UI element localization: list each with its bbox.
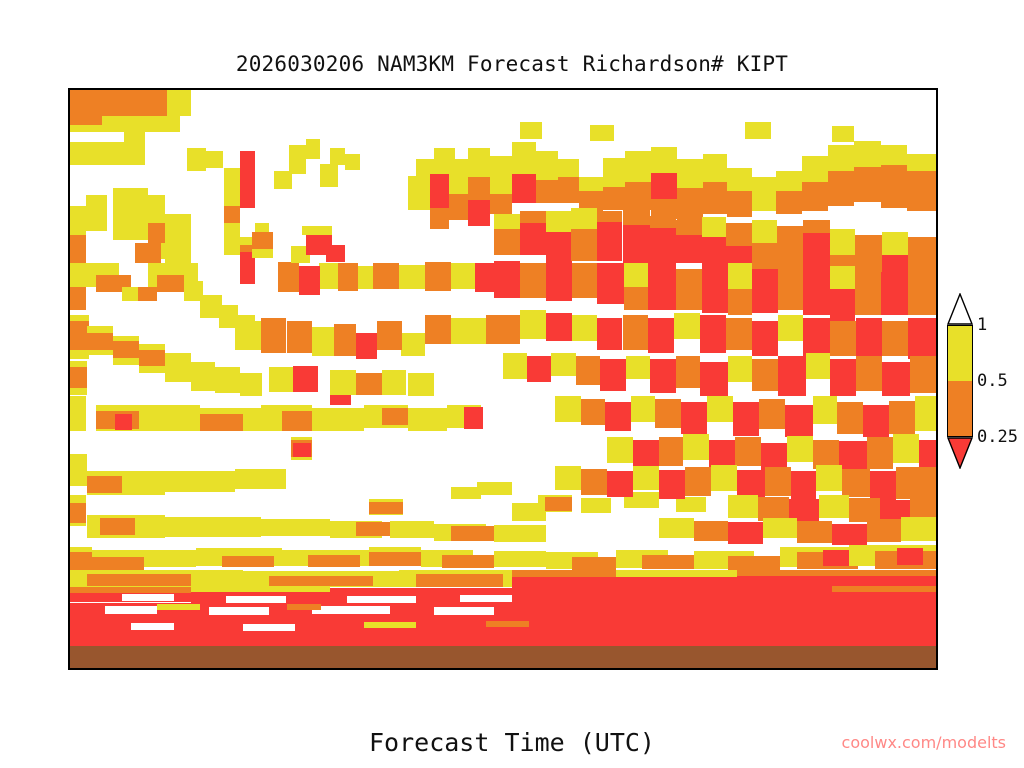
heatmap-cell — [787, 436, 813, 462]
heatmap-cell — [728, 289, 752, 315]
heatmap-cell — [674, 313, 700, 339]
heatmap-cell — [842, 469, 870, 498]
heatmap-cell — [728, 356, 752, 382]
heatmap-cell — [460, 595, 512, 602]
heatmap-cell — [206, 151, 223, 168]
heatmap-cell — [135, 243, 161, 263]
colorbar-top-arrow-icon — [947, 293, 973, 325]
watermark: coolwx.com/modelts — [842, 733, 1006, 752]
heatmap-cell — [797, 521, 832, 543]
heatmap-cell — [122, 594, 174, 601]
heatmap-cell — [102, 116, 167, 132]
heatmap-cell — [261, 318, 287, 353]
heatmap-cell — [187, 148, 206, 171]
heatmap-cell — [581, 498, 611, 513]
heatmap-cell — [503, 353, 527, 379]
heatmap-cell — [306, 139, 320, 159]
heatmap-cell — [752, 243, 776, 272]
heatmap-cell — [334, 324, 356, 356]
heatmap-cell — [881, 165, 907, 208]
heatmap-cell — [240, 151, 256, 183]
heatmap-cell — [856, 356, 882, 391]
heatmap-cell — [86, 195, 108, 231]
heatmap-cell — [520, 220, 546, 255]
heatmap-cell — [728, 263, 752, 292]
heatmap-cell — [319, 263, 338, 289]
heatmap-cell — [776, 191, 802, 214]
heatmap-cell — [733, 402, 759, 436]
heatmap-cell — [830, 321, 856, 356]
heatmap-cell — [235, 469, 287, 489]
heatmap-cell — [659, 518, 694, 538]
heatmap-cell — [837, 402, 863, 434]
heatmap-cell — [490, 156, 512, 188]
colorbar-legend: 1 0.5 0.25 — [943, 293, 979, 493]
heatmap-cell — [777, 226, 803, 272]
heatmap-cell — [347, 596, 416, 603]
heatmap-cell — [803, 269, 831, 315]
heatmap-cell — [167, 116, 180, 132]
heatmap-cell — [442, 555, 494, 568]
heatmap-cell — [651, 147, 677, 173]
heatmap-cell — [597, 220, 623, 260]
heatmap-cell — [399, 265, 425, 289]
heatmap-cell — [356, 522, 391, 536]
heatmap-cell — [70, 396, 86, 431]
heatmap-cell — [401, 333, 425, 356]
heatmap-cell — [102, 90, 167, 116]
heatmap-cell — [659, 470, 685, 499]
heatmap-cell — [651, 173, 677, 199]
heatmap-cell — [765, 467, 791, 496]
heatmap-cell — [527, 356, 551, 382]
heatmap-cell — [70, 90, 102, 125]
heatmap-cell — [165, 353, 191, 382]
heatmap-cell — [703, 182, 727, 214]
heatmap-cell — [624, 263, 648, 289]
heatmap-cell — [293, 366, 317, 392]
heatmap-cell — [752, 177, 776, 212]
heatmap-cell — [408, 408, 447, 431]
heatmap-cell — [759, 399, 785, 429]
heatmap-cell — [165, 517, 260, 537]
heatmap-cell — [581, 399, 605, 425]
heatmap-cell — [791, 471, 817, 501]
heatmap-cell — [677, 159, 703, 188]
colorbar-segment-yellow — [948, 326, 972, 381]
heatmap-cell — [261, 519, 330, 536]
heatmap-cell — [536, 151, 558, 180]
heatmap-cell — [449, 159, 468, 185]
terrain-band — [70, 646, 936, 668]
heatmap-cell — [224, 206, 240, 223]
heatmap-cell — [752, 269, 778, 312]
heatmap-cell — [113, 188, 148, 240]
heatmap-cell — [293, 443, 310, 457]
heatmap-cell — [302, 226, 331, 235]
heatmap-cell — [70, 125, 102, 133]
colorbar-label-over: 1 — [977, 315, 987, 335]
heatmap-cell — [278, 262, 300, 292]
heatmap-cell — [728, 556, 780, 570]
heatmap-cell — [633, 440, 659, 468]
heatmap-cell — [832, 126, 854, 142]
heatmap-cell — [87, 333, 113, 350]
heatmap-cell — [855, 275, 881, 315]
heatmap-cell — [896, 467, 936, 499]
heatmap-cell — [889, 401, 915, 435]
heatmap-cell — [603, 187, 625, 210]
heatmap-cell — [882, 321, 908, 356]
heatmap-cell — [778, 272, 802, 310]
heatmap-cell — [700, 315, 726, 353]
heatmap-cell — [737, 570, 936, 576]
heatmap-cell — [157, 275, 185, 292]
heatmap-cell — [803, 220, 831, 233]
heatmap-cell — [655, 399, 681, 428]
heatmap-cell — [726, 318, 752, 350]
chart-plot-area — [68, 88, 938, 670]
heatmap-cell — [520, 310, 546, 339]
heatmap-cell — [830, 229, 854, 258]
colorbar-body — [947, 325, 973, 437]
heatmap-cell — [148, 223, 165, 243]
heatmap-cell — [650, 216, 676, 228]
heatmap-cell — [369, 552, 421, 566]
page-title: 2026030206 NAM3KM Forecast Richardson# K… — [0, 52, 1024, 76]
heatmap-cell — [369, 502, 404, 515]
heatmap-cell — [907, 171, 936, 211]
heatmap-cell — [425, 262, 451, 291]
heatmap-cell — [382, 408, 408, 425]
heatmap-cell — [252, 249, 273, 258]
heatmap-cell — [576, 356, 600, 385]
heatmap-cell — [597, 263, 625, 303]
heatmap-cell — [648, 318, 674, 353]
heatmap-cell — [735, 437, 761, 466]
heatmap-cell — [572, 263, 596, 298]
heatmap-cell — [373, 263, 399, 289]
heatmap-cell — [752, 359, 778, 391]
heatmap-cell — [70, 587, 191, 593]
heatmap-cell — [282, 411, 312, 431]
heatmap-cell — [603, 158, 625, 187]
heatmap-cell — [320, 164, 337, 187]
heatmap-cell — [105, 606, 157, 614]
heatmap-cell — [464, 407, 483, 429]
heatmap-cell — [908, 318, 936, 358]
heatmap-cell — [832, 586, 936, 592]
heatmap-cell — [581, 469, 607, 495]
heatmap-cell — [702, 266, 728, 312]
heatmap-cell — [468, 200, 490, 226]
heatmap-cell — [287, 321, 313, 353]
heatmap-cell — [100, 518, 135, 535]
heatmap-cell — [897, 548, 923, 564]
heatmap-cell — [312, 327, 334, 356]
heatmap-cell — [468, 148, 490, 177]
heatmap-cell — [752, 321, 778, 356]
heatmap-cell — [648, 266, 676, 309]
heatmap-cell — [551, 353, 575, 376]
heatmap-cell — [92, 557, 144, 570]
heatmap-cell — [870, 471, 896, 500]
heatmap-cell — [728, 495, 758, 518]
heatmap-cell — [700, 362, 728, 397]
heatmap-cell — [650, 359, 676, 394]
heatmap-cell — [165, 471, 234, 491]
heatmap-cell — [209, 607, 270, 615]
heatmap-cell — [312, 606, 390, 614]
heatmap-cell — [70, 132, 80, 142]
heatmap-cell — [707, 396, 733, 422]
heatmap-cell — [856, 318, 882, 358]
heatmap-cell — [416, 574, 503, 587]
heatmap-cell — [882, 362, 910, 397]
heatmap-cell — [659, 437, 683, 466]
heatmap-cell — [901, 517, 936, 541]
heatmap-cell — [830, 359, 856, 397]
colorbar-segment-orange — [948, 381, 972, 436]
heatmap-cell — [520, 263, 546, 298]
heatmap-cell — [490, 194, 512, 214]
heatmap-cell — [356, 333, 378, 359]
heatmap-cell — [70, 603, 936, 620]
heatmap-cell — [308, 555, 360, 567]
heatmap-cell — [274, 171, 291, 189]
heatmap-cell — [633, 466, 659, 490]
heatmap-cell — [597, 211, 623, 221]
heatmap-cell — [70, 552, 92, 569]
heatmap-cell — [623, 208, 651, 224]
heatmap-cell — [345, 154, 360, 170]
heatmap-cell — [813, 396, 837, 424]
heatmap-cell — [893, 434, 919, 463]
heatmap-cell — [299, 266, 320, 295]
heatmap-cell — [867, 437, 893, 469]
heatmap-cell — [520, 211, 546, 223]
heatmap-cell — [312, 408, 364, 431]
heatmap-cell — [494, 525, 546, 542]
heatmap-cell — [289, 145, 306, 174]
heatmap-cell — [572, 315, 596, 341]
heatmap-cell — [226, 596, 287, 603]
heatmap-cell — [338, 263, 357, 291]
heatmap-cell — [477, 482, 512, 495]
heatmap-cell — [356, 266, 373, 289]
colorbar-label-low: 0.25 — [977, 427, 1018, 447]
heatmap-cell — [908, 275, 936, 315]
heatmap-cell — [546, 261, 572, 301]
heatmap-cell — [356, 373, 382, 395]
heatmap-cell — [240, 182, 256, 208]
heatmap-cell — [915, 396, 936, 431]
heatmap-cell — [555, 466, 581, 490]
heatmap-cell — [326, 245, 345, 262]
heatmap-cell — [139, 350, 165, 366]
heatmap-cell — [683, 434, 709, 460]
heatmap-cell — [685, 467, 711, 496]
heatmap-cell — [677, 188, 703, 220]
heatmap-cell — [113, 341, 139, 357]
heatmap-cell — [269, 367, 293, 391]
heatmap-cell — [763, 518, 798, 538]
heatmap-cell — [70, 321, 89, 350]
heatmap-cell — [623, 223, 651, 266]
heatmap-cell — [546, 313, 572, 342]
heatmap-cell — [590, 125, 614, 141]
heatmap-cell — [382, 370, 406, 394]
heatmap-cell — [138, 287, 157, 301]
heatmap-cell — [881, 272, 909, 315]
heatmap-cell — [676, 235, 702, 264]
heatmap-cell — [70, 454, 87, 486]
heatmap-cell — [703, 154, 727, 183]
heatmap-cell — [728, 522, 763, 544]
heatmap-cell — [806, 353, 830, 379]
heatmap-cell — [243, 624, 295, 631]
heatmap-cell — [451, 318, 486, 344]
heatmap-cell — [778, 315, 802, 341]
heatmap-cell — [631, 396, 655, 422]
heatmap-cell — [157, 604, 200, 610]
heatmap-cell — [131, 623, 174, 630]
heatmap-cell — [222, 556, 274, 568]
heatmap-cell — [330, 370, 356, 394]
heatmap-cell — [287, 604, 322, 610]
heatmap-cell — [616, 570, 737, 577]
heatmap-cell — [745, 122, 771, 139]
heatmap-cell — [854, 141, 882, 167]
heatmap-cell — [546, 232, 570, 261]
heatmap-cell — [536, 180, 558, 203]
heatmap-cell — [626, 356, 650, 379]
heatmap-cell — [191, 587, 330, 592]
heatmap-cell — [830, 289, 854, 321]
heatmap-cell — [364, 622, 416, 628]
heatmap-cell — [191, 362, 215, 391]
heatmap-cell — [572, 557, 615, 570]
heatmap-cell — [625, 151, 651, 183]
heatmap-cell — [425, 315, 451, 344]
heatmap-cell — [70, 367, 87, 387]
heatmap-cell — [330, 148, 346, 165]
heatmap-cell — [115, 414, 132, 430]
heatmap-cell — [451, 263, 475, 289]
heatmap-cell — [512, 142, 536, 174]
heatmap-cell — [451, 526, 494, 540]
heatmap-cell — [625, 182, 651, 210]
heatmap-cell — [390, 521, 433, 538]
heatmap-cell — [605, 402, 631, 431]
heatmap-cell — [235, 321, 261, 350]
heatmap-cell — [468, 177, 490, 200]
heatmap-cell — [70, 503, 86, 523]
heatmap-cell — [816, 465, 842, 491]
heatmap-cell — [607, 471, 633, 497]
heatmap-cell — [650, 226, 676, 272]
heatmap-cell — [240, 373, 263, 396]
heatmap-cell — [512, 570, 616, 577]
heatmap-cell — [503, 588, 720, 604]
heatmap-cell — [863, 405, 889, 437]
heatmap-cell — [449, 194, 468, 220]
heatmap-cell — [558, 177, 580, 203]
heatmap-cell — [512, 174, 536, 203]
heatmap-cell — [224, 223, 240, 255]
heatmap-cell — [711, 465, 737, 491]
heatmap-cell — [607, 437, 633, 463]
heatmap-cell — [676, 497, 706, 511]
heatmap-cell — [486, 621, 529, 627]
heatmap-cell — [642, 555, 694, 569]
heatmap-cell — [676, 356, 700, 388]
heatmap-cell — [555, 396, 581, 422]
heatmap-cell — [475, 263, 497, 292]
heatmap-cell — [434, 607, 495, 615]
heatmap-cell — [486, 315, 521, 344]
heatmap-cell — [224, 182, 240, 205]
heatmap-cell — [269, 576, 373, 586]
heatmap-cell — [854, 167, 882, 202]
heatmap-cell — [681, 402, 707, 434]
heatmap-cell — [867, 519, 902, 542]
heatmap-cell — [624, 287, 648, 310]
heatmap-cell — [70, 142, 124, 165]
heatmap-cell — [408, 373, 434, 396]
heatmap-cell — [676, 269, 702, 309]
colorbar-label-mid: 0.5 — [977, 371, 1008, 391]
heatmap-cell — [124, 132, 146, 165]
heatmap-cell — [494, 229, 520, 255]
heatmap-cell — [165, 214, 191, 263]
heatmap-cell — [215, 367, 239, 393]
heatmap-cell — [694, 521, 729, 541]
heatmap-cell — [623, 315, 649, 350]
heatmap-cell — [545, 497, 573, 511]
heatmap-cell — [520, 122, 542, 139]
colorbar-bottom-arrow-icon — [947, 437, 973, 469]
heatmap-cell — [910, 356, 936, 394]
heatmap-cell — [828, 145, 854, 174]
heatmap-cell — [802, 182, 828, 211]
heatmap-cells — [70, 90, 936, 668]
heatmap-cell — [828, 171, 854, 206]
heatmap-cell — [597, 318, 623, 350]
heatmap-cell — [819, 495, 849, 518]
heatmap-cell — [832, 524, 867, 546]
heatmap-cell — [778, 356, 806, 396]
heatmap-cell — [494, 551, 546, 567]
heatmap-cell — [600, 359, 626, 391]
heatmap-cell — [785, 405, 813, 437]
heatmap-cell — [494, 261, 520, 299]
heatmap-cell — [430, 208, 449, 228]
heatmap-cell — [830, 266, 854, 292]
heatmap-cell — [727, 191, 751, 217]
heatmap-cell — [70, 287, 86, 310]
heatmap-cell — [87, 476, 122, 493]
heatmap-cell — [430, 174, 449, 209]
heatmap-cell — [377, 321, 401, 350]
heatmap-cell — [571, 229, 597, 261]
heatmap-cell — [87, 574, 191, 586]
heatmap-cell — [167, 90, 191, 116]
heatmap-cell — [200, 414, 243, 431]
